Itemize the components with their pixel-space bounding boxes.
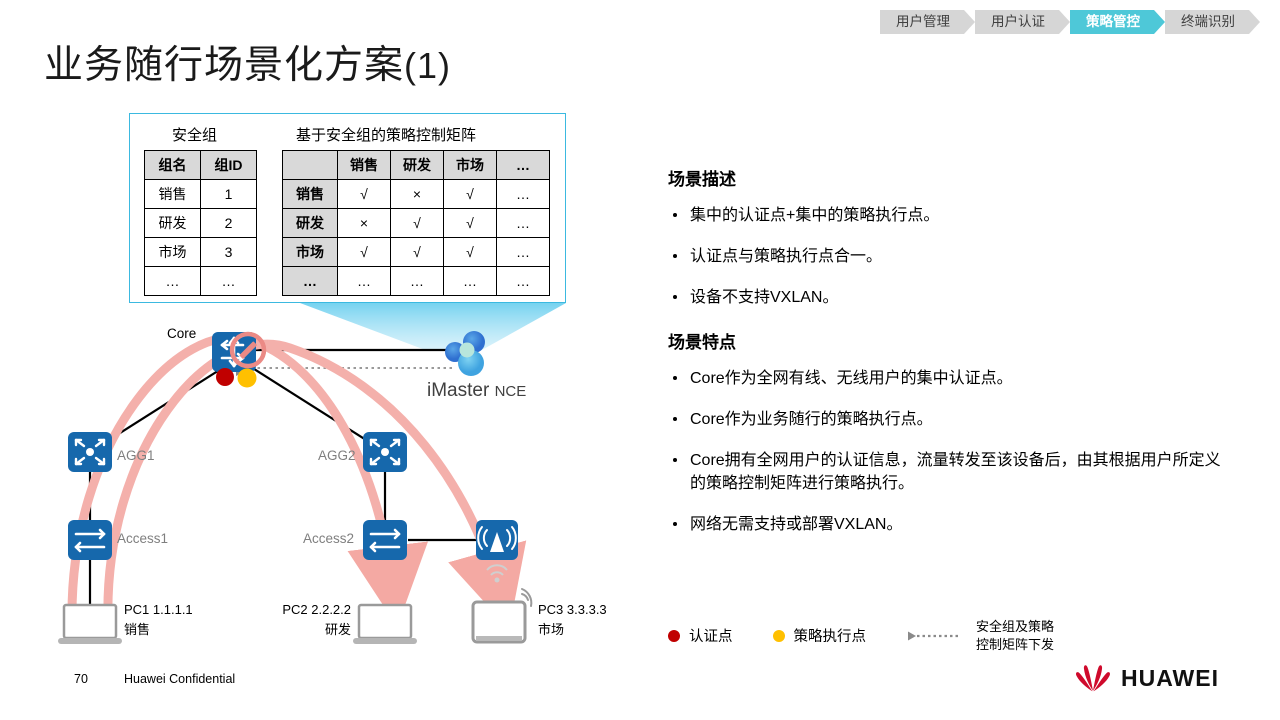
access2-label: Access2 [303, 531, 354, 546]
legend-note: 安全组及策略 控制矩阵下发 [976, 618, 1054, 653]
pm-cell: √ [391, 209, 444, 238]
access1-label: Access1 [117, 531, 168, 546]
huawei-brand-text: HUAWEI [1121, 665, 1219, 692]
table-row: 市场 3 [145, 238, 257, 267]
pc2-group: 研发 [279, 620, 351, 640]
legend-note-line1: 安全组及策略 [976, 618, 1054, 636]
list-item: Core作为全网有线、无线用户的集中认证点。 [668, 367, 1228, 390]
nce-label-main: iMaster [427, 380, 489, 401]
pm-cell: … [497, 209, 550, 238]
pc1-name: PC1 1.1.1.1 [124, 600, 193, 620]
scenario-description-heading: 场景描述 [668, 165, 1228, 190]
pm-corner [283, 151, 338, 180]
list-item: 设备不支持VXLAN。 [668, 286, 1228, 309]
legend-auth-label: 认证点 [689, 625, 733, 646]
legend: 认证点 策略执行点 安全组及策略 控制矩阵下发 [668, 618, 1054, 653]
pm-cell: √ [391, 238, 444, 267]
core-switch-icon[interactable] [212, 332, 264, 372]
scenario-features-heading: 场景特点 [668, 328, 1228, 353]
table-row: … … [145, 267, 257, 296]
table-row: 市场 √ √ √ … [283, 238, 550, 267]
sg-cell: 3 [201, 238, 257, 267]
pm-cell: … [391, 267, 444, 296]
pm-cell: × [338, 209, 391, 238]
pm-cell: √ [338, 180, 391, 209]
pm-cell: … [338, 267, 391, 296]
confidential-notice: Huawei Confidential [124, 672, 235, 686]
pm-row-header: 市场 [283, 238, 338, 267]
sg-cell: 销售 [145, 180, 201, 209]
policy-point-dot [238, 369, 257, 388]
pm-cell: × [391, 180, 444, 209]
pc1-label: PC1 1.1.1.1 销售 [124, 600, 193, 639]
access2-switch-icon[interactable] [363, 520, 407, 560]
page-title-suffix: (1) [404, 45, 451, 86]
table-row: 销售 √ × √ … [283, 180, 550, 209]
pm-cell: √ [338, 238, 391, 267]
sg-header-name: 组名 [145, 151, 201, 180]
table-row: 组名 组ID [145, 151, 257, 180]
pm-row-header: … [283, 267, 338, 296]
pc3-group: 市场 [538, 620, 607, 640]
pc2-name: PC2 2.2.2.2 [279, 600, 351, 620]
table-row: 研发 2 [145, 209, 257, 238]
legend-item-auth-point: 认证点 [668, 625, 733, 646]
pc2-label: PC2 2.2.2.2 研发 [279, 600, 351, 639]
list-item: 认证点与策略执行点合一。 [668, 245, 1228, 268]
imaster-nce-icon[interactable] [445, 331, 485, 376]
sg-cell: … [201, 267, 257, 296]
access1-switch-icon[interactable] [68, 520, 112, 560]
pc3-label: PC3 3.3.3.3 市场 [538, 600, 607, 639]
page-number: 70 [74, 672, 88, 686]
page-title: 业务随行场景化方案(1) [44, 44, 451, 89]
security-group-table: 组名 组ID 销售 1 研发 2 市场 3 … … [144, 150, 257, 296]
table-row: … … … … … [283, 267, 550, 296]
pm-cell: √ [444, 180, 497, 209]
agg2-switch-icon[interactable] [363, 432, 407, 472]
imaster-nce-label: iMaster NCE [427, 380, 526, 402]
table-row: 研发 × √ √ … [283, 209, 550, 238]
policy-matrix-table: 销售 研发 市场 … 销售 √ × √ … 研发 × √ √ … 市场 √ √ … [282, 150, 550, 296]
pc1-group: 销售 [124, 620, 193, 640]
policy-point-dot-icon [773, 630, 785, 642]
table-row: 销售 1 [145, 180, 257, 209]
scenario-features-list: Core作为全网有线、无线用户的集中认证点。 Core作为业务随行的策略执行点。… [668, 367, 1228, 537]
pc3-tablet-icon [473, 589, 531, 642]
breadcrumb-item-user-management[interactable]: 用户管理 [880, 10, 964, 34]
core-label: Core [167, 326, 196, 341]
breadcrumb-item-terminal-id[interactable]: 终端识别 [1165, 10, 1249, 34]
pm-col-header: 研发 [391, 151, 444, 180]
pm-row-header: 研发 [283, 209, 338, 238]
pc1-laptop-icon [58, 605, 122, 644]
huawei-flower-icon [1073, 663, 1113, 693]
pm-cell: … [497, 238, 550, 267]
pm-cell: … [497, 267, 550, 296]
pm-row-header: 销售 [283, 180, 338, 209]
scenario-text-panel: 场景描述 集中的认证点+集中的策略执行点。 认证点与策略执行点合一。 设备不支持… [668, 165, 1228, 555]
breadcrumb: 用户管理 用户认证 策略管控 终端识别 [880, 10, 1249, 34]
auth-point-dot [216, 368, 234, 386]
access-point-icon[interactable] [476, 520, 518, 560]
pc3-name: PC3 3.3.3.3 [538, 600, 607, 620]
pm-col-header: 市场 [444, 151, 497, 180]
legend-note-line2: 控制矩阵下发 [976, 636, 1054, 654]
sg-cell: … [145, 267, 201, 296]
pm-cell: … [497, 180, 550, 209]
list-item: Core作为业务随行的策略执行点。 [668, 408, 1228, 431]
breadcrumb-item-policy-control[interactable]: 策略管控 [1070, 10, 1154, 34]
pc2-laptop-icon [353, 605, 417, 644]
pm-col-header: … [497, 151, 550, 180]
sg-cell: 2 [201, 209, 257, 238]
list-item: 集中的认证点+集中的策略执行点。 [668, 204, 1228, 227]
sg-cell: 研发 [145, 209, 201, 238]
list-item: Core拥有全网用户的认证信息，流量转发至该设备后，由其根据用户所定义的策略控制… [668, 449, 1228, 495]
agg1-label: AGG1 [117, 448, 155, 463]
pm-cell: √ [444, 209, 497, 238]
sg-header-id: 组ID [201, 151, 257, 180]
legend-policy-label: 策略执行点 [794, 625, 867, 646]
pm-cell: √ [444, 238, 497, 267]
pm-cell: … [444, 267, 497, 296]
tables-panel: 安全组 基于安全组的策略控制矩阵 组名 组ID 销售 1 研发 2 市场 3 …… [129, 113, 566, 303]
nce-label-sub: NCE [495, 383, 527, 400]
security-group-caption: 安全组 [172, 124, 217, 145]
legend-dashed-arrow-icon [906, 630, 962, 642]
page-title-text: 业务随行场景化方案 [44, 44, 404, 87]
list-item: 网络无需支持或部署VXLAN。 [668, 513, 1228, 536]
policy-matrix-caption: 基于安全组的策略控制矩阵 [296, 124, 476, 145]
agg1-switch-icon[interactable] [68, 432, 112, 472]
breadcrumb-item-user-auth[interactable]: 用户认证 [975, 10, 1059, 34]
pm-col-header: 销售 [338, 151, 391, 180]
agg2-label: AGG2 [318, 448, 356, 463]
huawei-logo: HUAWEI [1073, 663, 1219, 693]
auth-point-dot-icon [668, 630, 680, 642]
sg-cell: 1 [201, 180, 257, 209]
table-row: 销售 研发 市场 … [283, 151, 550, 180]
sg-cell: 市场 [145, 238, 201, 267]
scenario-description-list: 集中的认证点+集中的策略执行点。 认证点与策略执行点合一。 设备不支持VXLAN… [668, 204, 1228, 310]
legend-item-policy-point: 策略执行点 [773, 625, 867, 646]
